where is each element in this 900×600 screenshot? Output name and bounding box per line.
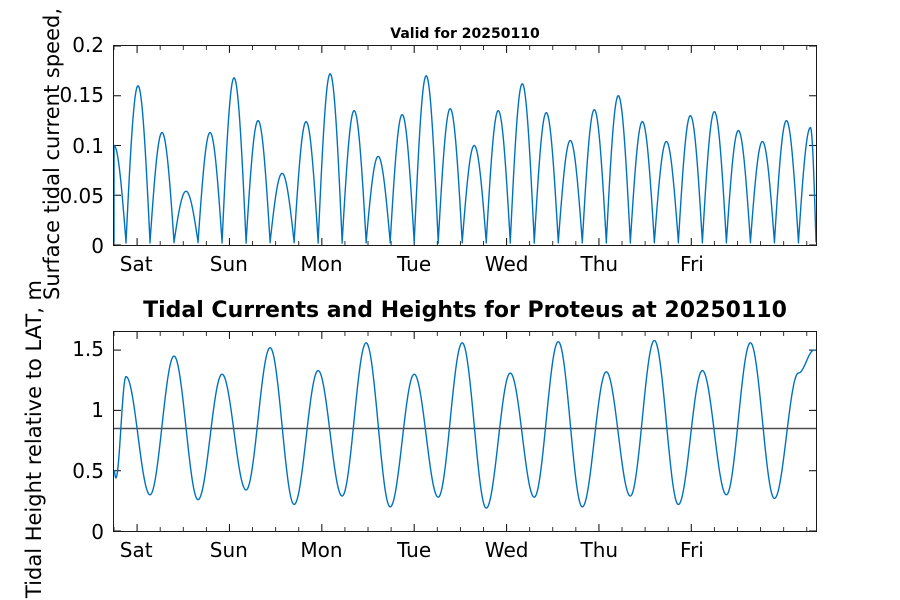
y-tick-height-2: 0.5 — [72, 459, 104, 483]
y-tick-current-2: 0.1 — [72, 134, 104, 158]
x-tick-current-fri: Fri — [680, 252, 704, 276]
x-tick-current-wed: Wed — [485, 252, 529, 276]
x-tick-labels-height: Sat Sun Mon Tue Wed Thu Fri — [113, 538, 817, 566]
x-tick-height-sat: Sat — [120, 538, 153, 562]
y-tick-labels-current: 0.2 0.15 0.1 0.05 0 — [0, 45, 104, 246]
y-tick-current-1: 0.15 — [59, 83, 104, 107]
x-tick-current-mon: Mon — [300, 252, 342, 276]
x-tick-height-sun: Sun — [210, 538, 248, 562]
current-speed-plot — [114, 46, 816, 245]
y-tick-height-0: 1.5 — [72, 337, 104, 361]
x-tick-height-wed: Wed — [485, 538, 529, 562]
x-tick-current-sat: Sat — [120, 252, 153, 276]
x-tick-height-fri: Fri — [680, 538, 704, 562]
main-title: Tidal Currents and Heights for Proteus a… — [113, 298, 817, 323]
y-tick-height-3: 0 — [91, 520, 104, 544]
y-tick-current-3: 0.05 — [59, 184, 104, 208]
x-tick-current-thu: Thu — [581, 252, 619, 276]
y-tick-current-4: 0 — [91, 234, 104, 258]
y-tick-height-1: 1 — [91, 398, 104, 422]
tidal-height-plot — [114, 332, 816, 531]
tidal-height-axes — [113, 331, 817, 532]
x-tick-height-tue: Tue — [397, 538, 431, 562]
current-speed-axes — [113, 45, 817, 246]
x-tick-current-tue: Tue — [397, 252, 431, 276]
x-tick-height-thu: Thu — [581, 538, 619, 562]
y-tick-labels-height: 1.5 1 0.5 0 — [0, 331, 104, 532]
current-panel-subtitle: Valid for 20250110 — [113, 26, 817, 42]
x-tick-height-mon: Mon — [300, 538, 342, 562]
y-tick-current-0: 0.2 — [72, 33, 104, 57]
x-tick-labels-current: Sat Sun Mon Tue Wed Thu Fri — [113, 252, 817, 280]
x-tick-current-sun: Sun — [210, 252, 248, 276]
tidal-figure: Surface tidal current speed, kn Tidal He… — [0, 0, 900, 600]
